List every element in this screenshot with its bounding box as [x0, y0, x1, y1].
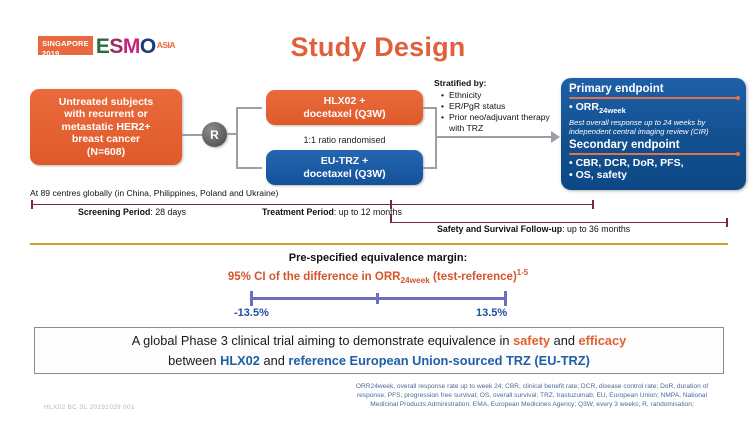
- randomisation-node: R: [202, 122, 227, 147]
- population-line-2: with recurrent or: [64, 108, 147, 121]
- connector-arm1-branch: [236, 107, 262, 109]
- timeline-treatment-label-rest: : up to 12 months: [334, 207, 402, 217]
- timeline-screening-line: [31, 204, 593, 205]
- equivalence-subtitle-citation: 1-5: [517, 268, 528, 277]
- population-sample-size: (N=608): [87, 146, 125, 159]
- abbreviations-footnote: ORR24week, overall response rate up to w…: [318, 382, 746, 410]
- treatment-arm-2-box: EU-TRZ + docetaxel (Q3W): [266, 150, 423, 185]
- primary-endpoint-heading: Primary endpoint: [569, 82, 738, 96]
- equivalence-midpoint-tick: [376, 293, 379, 304]
- stratification-item-er-pgr: ER/PgR status: [443, 101, 552, 112]
- equivalence-subtitle-pre: 95% CI of the difference in ORR: [228, 271, 401, 283]
- stratification-title: Stratified by:: [434, 78, 552, 89]
- conclusion-line2-text1: between: [168, 353, 220, 368]
- page-title: Study Design: [0, 32, 756, 63]
- equivalence-margin-axis: -13.5% 13.5%: [248, 288, 510, 320]
- secondary-endpoint-item-2: • OS, safety: [569, 169, 738, 182]
- equivalence-upper-bound-tick: [504, 291, 507, 306]
- footnote-line-1: ORR24week, overall response rate up to w…: [318, 382, 746, 391]
- arrow-to-endpoints-shaft: [435, 136, 553, 138]
- randomisation-symbol: R: [210, 128, 219, 142]
- conclusion-highlight-hlx02: HLX02: [220, 353, 260, 368]
- population-line-3: metastatic HER2+: [62, 121, 151, 134]
- primary-endpoint-metric-subscript: 24week: [599, 106, 626, 115]
- population-line-4: breast cancer: [72, 133, 140, 146]
- connector-randomisation-to-arm1: [227, 133, 237, 135]
- primary-endpoint-metric: ORR: [576, 101, 599, 113]
- timeline-followup-label-bold: Safety and Survival Follow-up: [437, 224, 562, 234]
- conclusion-highlight-safety: safety: [513, 333, 550, 348]
- equivalence-lower-bound-value: -13.5%: [234, 307, 269, 319]
- timeline-followup-label-rest: : up to 36 months: [562, 224, 630, 234]
- timeline-followup-label: Safety and Survival Follow-up: up to 36 …: [437, 224, 630, 234]
- arm1-line-1: HLX02 +: [324, 95, 366, 108]
- primary-endpoint-rule: [569, 97, 738, 99]
- timeline-followup-end-cap: [726, 218, 728, 227]
- secondary-endpoint-rule: [569, 153, 738, 155]
- timeline-followup-start-cap: [390, 214, 392, 223]
- population-line-1: Untreated subjects: [59, 96, 154, 109]
- population-box: Untreated subjects with recurrent or met…: [30, 89, 182, 165]
- arrow-to-endpoints-head: [551, 131, 560, 143]
- arm2-line-2: docetaxel (Q3W): [303, 168, 385, 181]
- conclusion-line1-text1: A global Phase 3 clinical trial aiming t…: [132, 333, 513, 348]
- timeline-screening-label-rest: : 28 days: [150, 207, 186, 217]
- primary-endpoint-item: • ORR24week: [569, 101, 738, 118]
- secondary-endpoint-heading: Secondary endpoint: [569, 138, 738, 152]
- timeline-treatment-end-cap: [592, 200, 594, 209]
- arm2-line-1: EU-TRZ +: [321, 155, 369, 168]
- equivalence-margin-title: Pre-specified equivalence margin:: [0, 252, 756, 264]
- conclusion-box: A global Phase 3 clinical trial aiming t…: [34, 327, 724, 374]
- treatment-arm-1-box: HLX02 + docetaxel (Q3W): [266, 90, 423, 125]
- slide-identifier: HLX02 BC SL 20191029 001: [44, 404, 135, 411]
- arm1-line-2: docetaxel (Q3W): [303, 108, 385, 121]
- secondary-endpoint-metrics-2: OS, safety: [576, 169, 627, 181]
- centres-note: At 89 centres globally (in China, Philip…: [30, 188, 278, 198]
- connector-population-to-randomisation: [182, 134, 204, 136]
- endpoints-panel: Primary endpoint • ORR24week Best overal…: [561, 78, 746, 190]
- randomisation-ratio-label: 1:1 ratio randomised: [252, 135, 437, 145]
- conclusion-highlight-efficacy: efficacy: [579, 333, 627, 348]
- slide-canvas: SINGAPORE 2019 ESMO ASIA Study Design Un…: [0, 0, 756, 425]
- secondary-endpoint-metrics-1: CBR, DCR, DoR, PFS,: [576, 157, 684, 169]
- conclusion-line2-text2: and: [260, 353, 288, 368]
- footnote-line-2: response; PFS, progression free survival…: [318, 391, 746, 400]
- timeline-treatment-label-bold: Treatment Period: [262, 207, 334, 217]
- stratification-list: Ethnicity ER/PgR status Prior neo/adjuva…: [434, 90, 552, 134]
- connector-randomisation-stem: [236, 107, 238, 168]
- stratification-item-ethnicity: Ethnicity: [443, 90, 552, 101]
- equivalence-subtitle-post: (test-reference): [430, 271, 517, 283]
- stratification-block: Stratified by: Ethnicity ER/PgR status P…: [434, 78, 552, 134]
- equivalence-lower-bound-tick: [250, 291, 253, 306]
- equivalence-margin-subtitle: 95% CI of the difference in ORR24week (t…: [0, 268, 756, 285]
- conclusion-highlight-eutrz: reference European Union-sourced TRZ (EU…: [288, 353, 589, 368]
- conclusion-line1-text2: and: [550, 333, 578, 348]
- stratification-item-prior-therapy: Prior neo/adjuvant therapy with TRZ: [443, 112, 552, 134]
- section-divider: [30, 243, 728, 245]
- timeline-treatment-label: Treatment Period: up to 12 months: [262, 207, 402, 217]
- connector-arm2-branch: [236, 167, 262, 169]
- primary-endpoint-description-2: independent central imaging review (CIR): [569, 127, 738, 137]
- conclusion-line-2: between HLX02 and reference European Uni…: [168, 351, 590, 371]
- primary-endpoint-description-1: Best overall response up to 24 weeks by: [569, 118, 738, 128]
- secondary-endpoint-item-1: • CBR, DCR, DoR, PFS,: [569, 157, 738, 170]
- timeline-screening-start-cap: [31, 200, 33, 209]
- equivalence-subtitle-subscript: 24week: [400, 276, 429, 285]
- footnote-line-3: Medicinal Products Administration; EMA, …: [318, 400, 746, 409]
- timeline-screening-label: Screening Period: 28 days: [78, 207, 186, 217]
- equivalence-upper-bound-value: 13.5%: [476, 307, 507, 319]
- conclusion-line-1: A global Phase 3 clinical trial aiming t…: [132, 331, 626, 351]
- timeline-screening-label-bold: Screening Period: [78, 207, 150, 217]
